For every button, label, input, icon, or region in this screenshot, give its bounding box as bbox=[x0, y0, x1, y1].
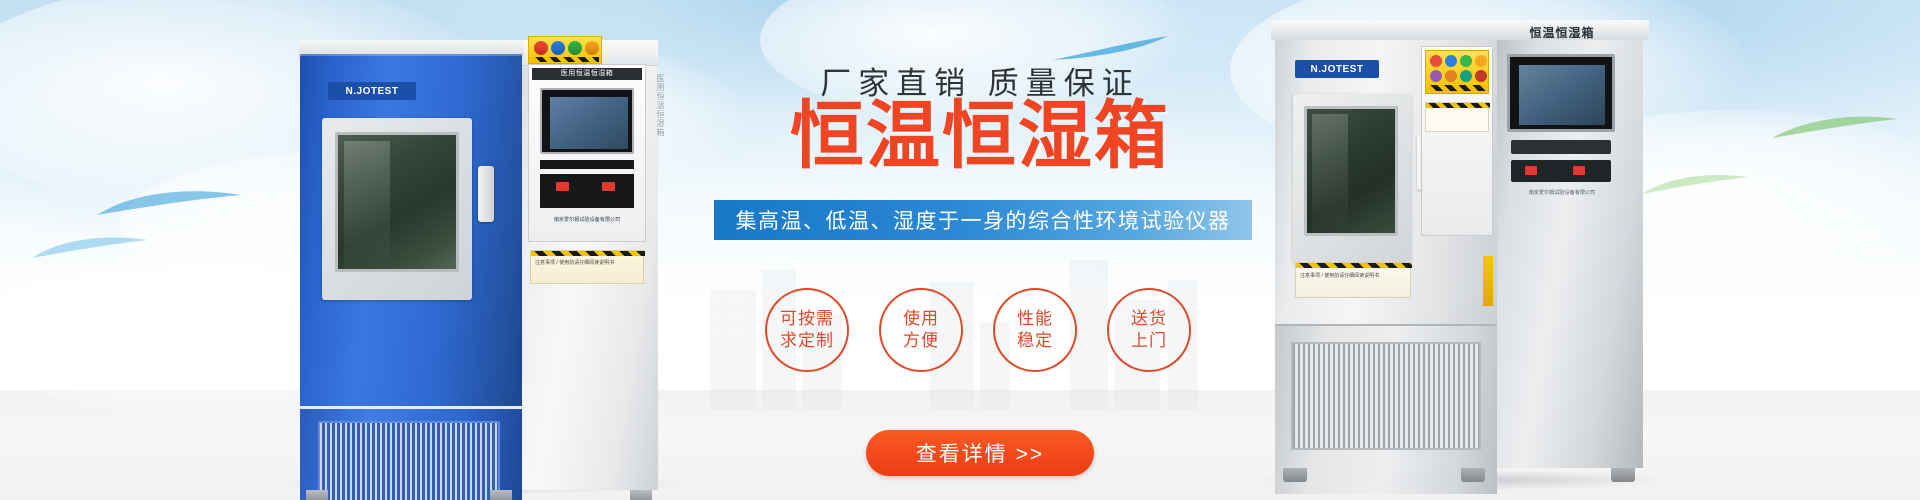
machine-certification-badge bbox=[1425, 50, 1489, 94]
machine-door-handle bbox=[478, 166, 494, 222]
machine-door bbox=[322, 118, 472, 300]
feature-line-1: 可按需 bbox=[780, 308, 834, 330]
hazard-stripe-icon bbox=[1296, 263, 1412, 268]
view-details-label: 查看详情 >> bbox=[916, 438, 1044, 468]
machine-viewport-glass bbox=[335, 132, 459, 272]
machine-base bbox=[300, 406, 522, 500]
machine-panel-title-plate: 医用恒温恒湿箱 bbox=[532, 68, 642, 80]
view-details-button[interactable]: 查看详情 >> bbox=[866, 430, 1094, 476]
machine-yellow-strip bbox=[1483, 256, 1493, 306]
banner-content: 厂家直销 质量保证 恒温恒湿箱 集高温、低温、湿度于一身的综合性环境试验仪器 可… bbox=[700, 0, 1260, 500]
machine-certification-badge bbox=[528, 36, 602, 64]
machine-foot bbox=[1283, 468, 1307, 482]
machine-button-row bbox=[1511, 160, 1611, 182]
feature-circle: 送货 上门 bbox=[1107, 288, 1191, 372]
machine-warning-label: 注意事项 / 使用前请仔细阅读说明书 bbox=[1295, 262, 1411, 298]
machine-indicator-strip bbox=[540, 160, 634, 169]
machine-led-indicator bbox=[602, 182, 615, 191]
product-image-right-chamber: N.JOTEST 恒温恒湿箱 南京爱尔姆试验设备有限公司 bbox=[1275, 10, 1645, 500]
machine-company-plate: 南京爱尔姆试验设备有限公司 bbox=[1503, 188, 1621, 198]
product-image-left-chamber: N.JOTEST 医用恒温恒湿箱 南京爱尔姆试验设备有限公司 注意事项 / 使用… bbox=[300, 22, 660, 500]
feature-line-1: 使用 bbox=[903, 308, 939, 330]
machine-company-label: 南京爱尔姆试验设备有限公司 bbox=[537, 215, 637, 225]
machine-led-indicator bbox=[1573, 166, 1585, 175]
feature-line-1: 送货 bbox=[1131, 308, 1167, 330]
machine-panel-title-label: 医用恒温恒湿箱 bbox=[532, 68, 642, 80]
feature-circle: 可按需 求定制 bbox=[765, 288, 849, 372]
machine-company-label: 南京爱尔姆试验设备有限公司 bbox=[1512, 189, 1612, 198]
machine-title-plate: 恒温恒湿箱 bbox=[1503, 24, 1621, 40]
machine-viewport-glass bbox=[1304, 106, 1398, 236]
machine-foot bbox=[490, 490, 512, 500]
hazard-stripe-icon bbox=[1426, 103, 1490, 108]
machine-warning-text: 注意事项 / 使用前请仔细阅读说明书 bbox=[535, 260, 614, 266]
banner-subtitle-text: 集高温、低温、湿度于一身的综合性环境试验仪器 bbox=[736, 205, 1231, 235]
promo-banner: N.JOTEST 医用恒温恒湿箱 南京爱尔姆试验设备有限公司 注意事项 / 使用… bbox=[0, 0, 1920, 500]
machine-notice-label bbox=[1425, 102, 1489, 132]
machine-company-plate: 南京爱尔姆试验设备有限公司 bbox=[528, 214, 646, 226]
machine-display-screen bbox=[1507, 54, 1615, 132]
machine-foot bbox=[306, 490, 328, 500]
feature-line-2: 上门 bbox=[1131, 330, 1167, 352]
machine-vent-grille bbox=[318, 421, 500, 500]
banner-subtitle-bar: 集高温、低温、湿度于一身的综合性环境试验仪器 bbox=[714, 200, 1252, 240]
machine-foot bbox=[630, 490, 652, 500]
machine-led-indicator bbox=[1525, 166, 1537, 175]
machine-display-screen bbox=[540, 88, 634, 154]
machine-brand-label: N.JOTEST bbox=[346, 86, 399, 97]
machine-foot bbox=[1611, 468, 1635, 482]
feature-line-1: 性能 bbox=[1017, 308, 1053, 330]
machine-brand-plate: N.JOTEST bbox=[328, 82, 416, 100]
feature-line-2: 求定制 bbox=[780, 330, 834, 352]
feature-line-2: 方便 bbox=[903, 330, 939, 352]
machine-indicator-strip bbox=[1511, 140, 1611, 154]
machine-side-label: 医用恒温恒湿箱 bbox=[652, 74, 666, 170]
machine-brand-label: N.JOTEST bbox=[1311, 64, 1364, 75]
machine-foot bbox=[1461, 468, 1485, 482]
feature-circle-list: 可按需 求定制 使用 方便 性能 稳定 送货 上门 bbox=[698, 288, 1258, 372]
feature-line-2: 稳定 bbox=[1017, 330, 1053, 352]
machine-body: N.JOTEST bbox=[300, 54, 522, 490]
machine-vent-grille bbox=[1291, 342, 1481, 450]
machine-led-indicator bbox=[556, 182, 569, 191]
feature-circle: 使用 方便 bbox=[879, 288, 963, 372]
machine-button-row bbox=[540, 174, 634, 208]
machine-brand-plate: N.JOTEST bbox=[1295, 60, 1379, 78]
banner-headline: 恒温恒湿箱 bbox=[700, 98, 1260, 175]
feature-circle: 性能 稳定 bbox=[993, 288, 1077, 372]
machine-door bbox=[1293, 94, 1411, 264]
machine-warning-label: 注意事项 / 使用前请仔细阅读说明书 bbox=[530, 250, 644, 284]
machine-title-label: 恒温恒湿箱 bbox=[1529, 24, 1594, 41]
machine-warning-text: 注意事项 / 使用前请仔细阅读说明书 bbox=[1300, 273, 1379, 279]
hazard-stripe-icon bbox=[531, 251, 645, 256]
